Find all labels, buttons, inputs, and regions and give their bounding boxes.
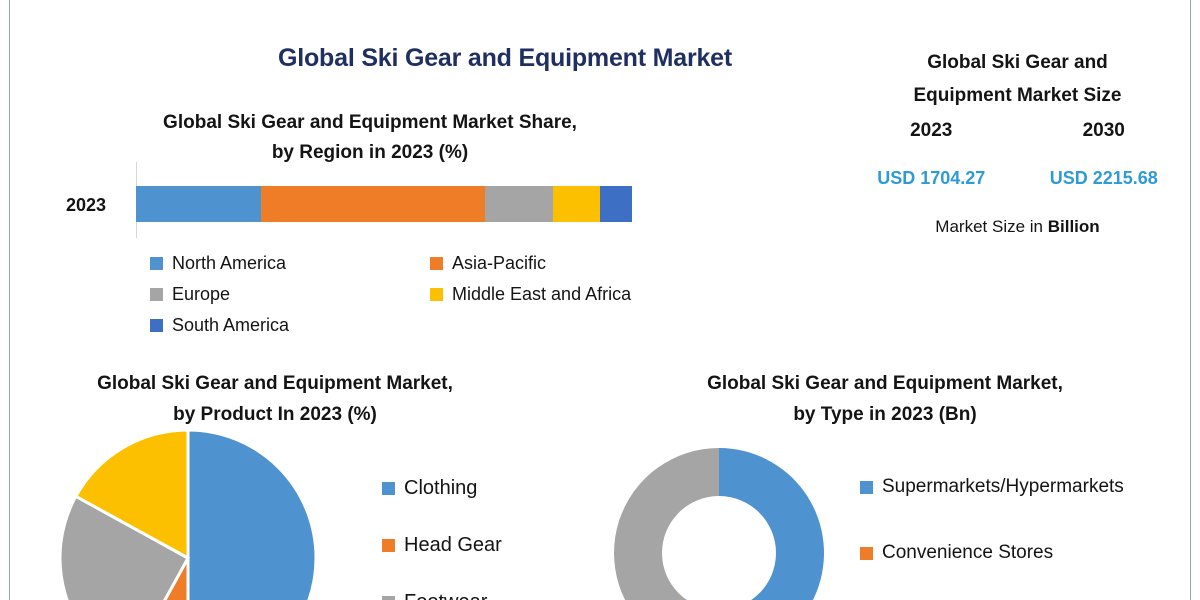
legend-item: Clothing [382, 460, 502, 517]
legend-label: Middle East and Africa [452, 284, 631, 305]
bar-category-label: 2023 [66, 195, 106, 216]
donut-chart-graphic [612, 446, 827, 600]
by-product-title-line2: by Product In 2023 (%) [10, 399, 540, 430]
market-share-chart: Global Ski Gear and Equipment Market Sha… [20, 100, 720, 340]
legend-swatch-icon [150, 319, 163, 332]
legend-swatch-icon [382, 482, 395, 495]
legend-label: Convenience Stores [882, 538, 1053, 568]
by-type-title-line2: by Type in 2023 (Bn) [605, 399, 1165, 430]
by-type-title: Global Ski Gear and Equipment Market, by… [605, 368, 1165, 430]
legend-label: Footwear [404, 591, 487, 600]
market-size-value-2023: USD 1704.27 [845, 168, 1018, 189]
market-size-panel: Global Ski Gear and Equipment Market Siz… [845, 46, 1190, 296]
legend-item: Middle East and Africa [430, 279, 710, 310]
legend-label: North America [172, 253, 286, 274]
page-title: Global Ski Gear and Equipment Market [180, 44, 830, 73]
market-share-title-line1: Global Ski Gear and Equipment Market Sha… [20, 108, 720, 138]
market-share-title-line2: by Region in 2023 (%) [20, 138, 720, 168]
by-product-chart: Global Ski Gear and Equipment Market, by… [10, 360, 610, 600]
market-size-years: 2023 2030 [845, 120, 1190, 142]
legend-item: Head Gear [382, 517, 502, 574]
legend-label: Head Gear [404, 534, 502, 557]
bar-segment-middle-east-and-africa [553, 186, 600, 222]
market-size-footer-unit: Billion [1048, 217, 1100, 236]
market-size-values: USD 1704.27 USD 2215.68 [845, 168, 1190, 189]
market-share-legend: North AmericaAsia-PacificEuropeMiddle Ea… [150, 248, 710, 341]
market-share-title: Global Ski Gear and Equipment Market Sha… [20, 108, 720, 168]
legend-swatch-icon [860, 481, 873, 494]
legend-swatch-icon [150, 288, 163, 301]
legend-item: Asia-Pacific [430, 248, 710, 279]
legend-item: Europe [150, 279, 430, 310]
legend-item: Supermarkets/Hypermarkets [860, 472, 1190, 502]
legend-swatch-icon [150, 257, 163, 270]
legend-item: Convenience Stores [860, 538, 1190, 568]
bar-segment-north-america [136, 186, 261, 222]
pie-chart-graphic [58, 428, 318, 600]
legend-swatch-icon [430, 288, 443, 301]
legend-item: North America [150, 248, 430, 279]
infographic-page: Global Ski Gear and Equipment Market Glo… [0, 0, 1200, 600]
bar-segment-south-america [600, 186, 632, 222]
market-size-year-2023: 2023 [845, 120, 1018, 142]
legend-item: South America [150, 310, 430, 341]
by-type-chart: Global Ski Gear and Equipment Market, by… [605, 360, 1190, 600]
bar-segment-asia-pacific [261, 186, 485, 222]
by-type-title-line1: Global Ski Gear and Equipment Market, [605, 368, 1165, 399]
legend-label: Clothing [404, 477, 477, 500]
market-size-year-2030: 2030 [1018, 120, 1191, 142]
market-size-title-line1: Global Ski Gear and [845, 46, 1190, 79]
market-size-footer-prefix: Market Size in [935, 217, 1047, 236]
legend-swatch-icon [382, 596, 395, 600]
legend-swatch-icon [430, 257, 443, 270]
by-product-legend: ClothingHead GearFootwear [382, 460, 502, 600]
legend-swatch-icon [382, 539, 395, 552]
legend-label: Supermarkets/Hypermarkets [882, 472, 1124, 502]
market-size-footer: Market Size in Billion [845, 217, 1190, 237]
legend-label: Asia-Pacific [452, 253, 546, 274]
pie-slice-clothing [188, 430, 316, 600]
by-product-title-line1: Global Ski Gear and Equipment Market, [10, 368, 540, 399]
market-size-title: Global Ski Gear and Equipment Market Siz… [845, 46, 1190, 112]
bar-segment-europe [485, 186, 553, 222]
legend-label: South America [172, 315, 289, 336]
legend-swatch-icon [860, 547, 873, 560]
legend-item: Footwear [382, 574, 502, 600]
by-product-title: Global Ski Gear and Equipment Market, by… [10, 368, 540, 430]
market-size-value-2030: USD 2215.68 [1018, 168, 1191, 189]
market-size-title-line2: Equipment Market Size [845, 79, 1190, 112]
right-border-line [1190, 0, 1191, 600]
by-type-legend: Supermarkets/HypermarketsConvenience Sto… [860, 472, 1190, 600]
stacked-bar [136, 186, 632, 222]
legend-label: Europe [172, 284, 230, 305]
